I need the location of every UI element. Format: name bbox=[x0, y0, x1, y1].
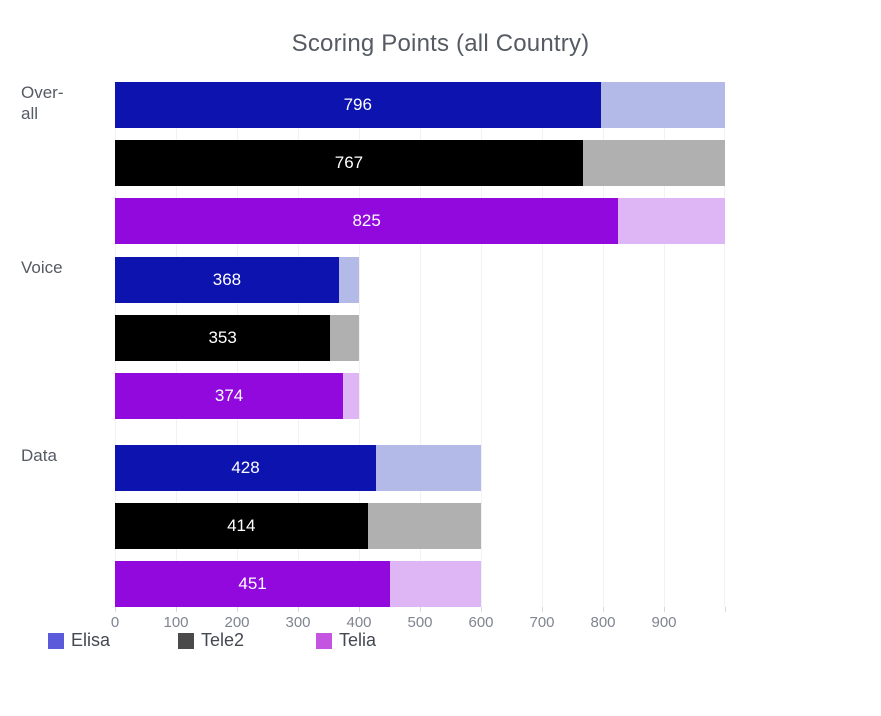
bar[interactable]: 368 bbox=[115, 257, 359, 303]
x-axis-tick-label: 100 bbox=[163, 614, 188, 631]
legend-item-tele2[interactable]: Tele2 bbox=[178, 630, 244, 651]
bar-value-label: 796 bbox=[344, 95, 372, 115]
x-axis-tick bbox=[298, 607, 299, 612]
x-axis-tick bbox=[664, 607, 665, 612]
bar-group: Data428414451 bbox=[115, 445, 725, 619]
bar-segment-remainder[interactable] bbox=[618, 198, 725, 244]
x-axis-tick-label: 900 bbox=[651, 614, 676, 631]
bar[interactable]: 374 bbox=[115, 373, 359, 419]
bar[interactable]: 767 bbox=[115, 140, 725, 186]
bar-row: 796 bbox=[115, 82, 725, 128]
x-axis-tick bbox=[359, 607, 360, 612]
bar-value-label: 374 bbox=[215, 386, 243, 406]
bar[interactable]: 796 bbox=[115, 82, 725, 128]
bar-row: 353 bbox=[115, 315, 725, 361]
x-axis-tick-label: 700 bbox=[529, 614, 554, 631]
bar-segment-remainder[interactable] bbox=[339, 257, 359, 303]
x-axis-tick bbox=[481, 607, 482, 612]
category-label: Data bbox=[21, 445, 111, 466]
bar-row: 428 bbox=[115, 445, 725, 491]
bar-segment-value[interactable]: 796 bbox=[115, 82, 601, 128]
legend-label: Telia bbox=[339, 630, 376, 651]
bar-row: 451 bbox=[115, 561, 725, 607]
bar-value-label: 767 bbox=[335, 153, 363, 173]
x-axis-tick-label: 400 bbox=[346, 614, 371, 631]
bar-segment-remainder[interactable] bbox=[390, 561, 481, 607]
x-axis-tick bbox=[603, 607, 604, 612]
bar[interactable]: 428 bbox=[115, 445, 481, 491]
plot-area: Over-all796767825Voice368353374Data42841… bbox=[115, 82, 725, 607]
chart-title: Scoring Points (all Country) bbox=[0, 30, 881, 58]
x-axis-tick bbox=[115, 607, 116, 612]
bar-row: 414 bbox=[115, 503, 725, 549]
bar-segment-remainder[interactable] bbox=[601, 82, 725, 128]
x-axis-tick bbox=[176, 607, 177, 612]
legend-swatch-icon bbox=[316, 633, 332, 649]
bar[interactable]: 414 bbox=[115, 503, 481, 549]
bar-segment-value[interactable]: 767 bbox=[115, 140, 583, 186]
bar-segment-remainder[interactable] bbox=[583, 140, 725, 186]
bar-segment-value[interactable]: 825 bbox=[115, 198, 618, 244]
bar-value-label: 368 bbox=[213, 270, 241, 290]
bar-value-label: 825 bbox=[352, 211, 380, 231]
legend-item-telia[interactable]: Telia bbox=[316, 630, 376, 651]
bar-segment-remainder[interactable] bbox=[330, 315, 359, 361]
legend-swatch-icon bbox=[48, 633, 64, 649]
bar-value-label: 414 bbox=[227, 516, 255, 536]
legend-item-elisa[interactable]: Elisa bbox=[48, 630, 110, 651]
x-axis-tick-label: 0 bbox=[111, 614, 119, 631]
x-axis-tick-label: 800 bbox=[590, 614, 615, 631]
bar-segment-remainder[interactable] bbox=[376, 445, 481, 491]
bar-segment-value[interactable]: 451 bbox=[115, 561, 390, 607]
x-axis-tick-label: 600 bbox=[468, 614, 493, 631]
legend-swatch-icon bbox=[178, 633, 194, 649]
x-axis-tick-label: 200 bbox=[224, 614, 249, 631]
bar[interactable]: 451 bbox=[115, 561, 481, 607]
category-label: Voice bbox=[21, 257, 111, 278]
bar-segment-value[interactable]: 368 bbox=[115, 257, 339, 303]
bar-segment-value[interactable]: 428 bbox=[115, 445, 376, 491]
bar-value-label: 353 bbox=[208, 328, 236, 348]
legend-label: Elisa bbox=[71, 630, 110, 651]
x-axis-tick-label: 300 bbox=[285, 614, 310, 631]
bar-row: 368 bbox=[115, 257, 725, 303]
bar-value-label: 428 bbox=[231, 458, 259, 478]
legend-label: Tele2 bbox=[201, 630, 244, 651]
bar-value-label: 451 bbox=[238, 574, 266, 594]
bar-segment-value[interactable]: 414 bbox=[115, 503, 368, 549]
bar[interactable]: 825 bbox=[115, 198, 725, 244]
x-axis-tick bbox=[237, 607, 238, 612]
x-axis-tick bbox=[725, 607, 726, 612]
bar-row: 825 bbox=[115, 198, 725, 244]
bar-segment-remainder[interactable] bbox=[343, 373, 359, 419]
x-axis-tick-label: 500 bbox=[407, 614, 432, 631]
chart-container: Scoring Points (all Country) Over-all796… bbox=[0, 0, 881, 716]
bar-segment-value[interactable]: 374 bbox=[115, 373, 343, 419]
category-label: Over-all bbox=[21, 82, 111, 124]
bar-segment-value[interactable]: 353 bbox=[115, 315, 330, 361]
bar-row: 374 bbox=[115, 373, 725, 419]
bar-group: Over-all796767825 bbox=[115, 82, 725, 256]
bar-group: Voice368353374 bbox=[115, 257, 725, 431]
bar-row: 767 bbox=[115, 140, 725, 186]
bar-segment-remainder[interactable] bbox=[368, 503, 481, 549]
x-axis-tick bbox=[420, 607, 421, 612]
bar[interactable]: 353 bbox=[115, 315, 359, 361]
x-axis-tick bbox=[542, 607, 543, 612]
